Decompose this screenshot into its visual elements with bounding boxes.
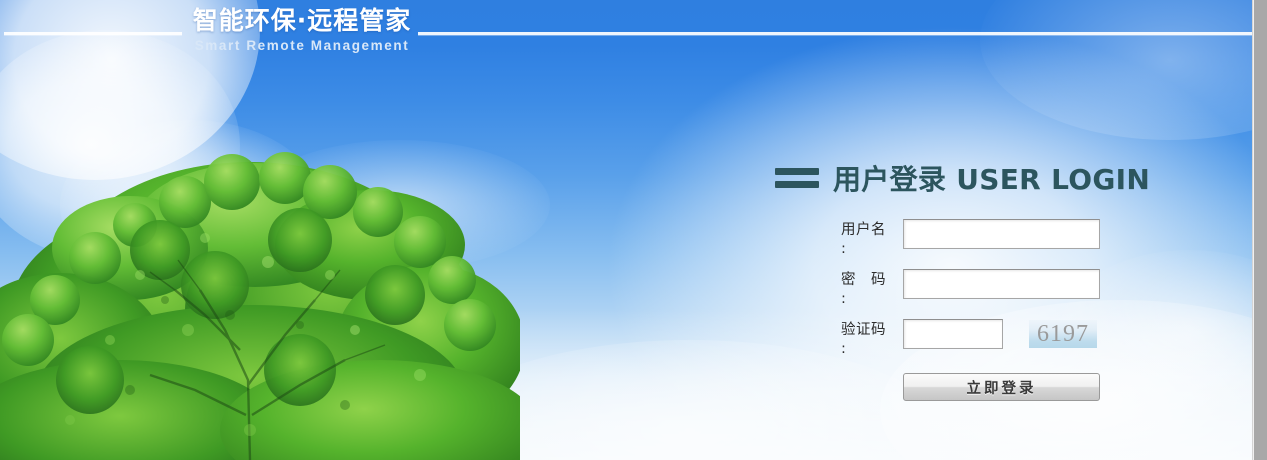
captcha-input[interactable] [903,319,1003,349]
password-input[interactable] [903,269,1100,299]
username-label: 用户名 : [841,219,903,259]
login-form: 用户名 : 密 码 : 验证码 : 6197 [775,219,1195,401]
captcha-row: 验证码 : 6197 [841,319,1195,359]
login-panel: 用户登录 USER LOGIN 用户名 : 密 码 : 验证码 [775,150,1195,401]
username-label-text: 用户名 [841,222,886,238]
vertical-scrollbar[interactable] [1252,0,1267,460]
captcha-image[interactable]: 6197 [1029,320,1097,348]
captcha-label-colon: : [841,340,903,359]
brand-title-cn: 智能环保·远程管家 [186,6,418,36]
cloud-top-middle [250,140,550,270]
brand-title-en: Smart Remote Management [186,37,418,55]
header-rule-right [418,32,1252,35]
login-page: 智能环保·远程管家 Smart Remote Management 用户登录 U… [0,0,1267,460]
page-header: 智能环保·远程管家 Smart Remote Management [0,0,1252,70]
password-label-text: 密 码 [841,272,886,288]
submit-row: 立即登录 [841,373,1195,401]
brand-logo: 智能环保·远程管家 Smart Remote Management [186,6,418,55]
captcha-label: 验证码 : [841,319,903,359]
double-bar-icon [775,168,819,188]
password-label-colon: : [841,290,903,309]
password-label: 密 码 : [841,269,903,309]
login-button[interactable]: 立即登录 [903,373,1100,401]
header-rule-left [4,32,182,35]
username-input[interactable] [903,219,1100,249]
captcha-label-text: 验证码 [841,322,886,338]
password-row: 密 码 : [841,269,1195,309]
username-label-colon: : [841,240,903,259]
login-title-text: 用户登录 USER LOGIN [833,158,1150,198]
username-row: 用户名 : [841,219,1195,259]
scrollbar-thumb[interactable] [1254,0,1267,460]
cloud-top-left-3 [60,120,320,290]
login-title: 用户登录 USER LOGIN [775,150,1195,206]
